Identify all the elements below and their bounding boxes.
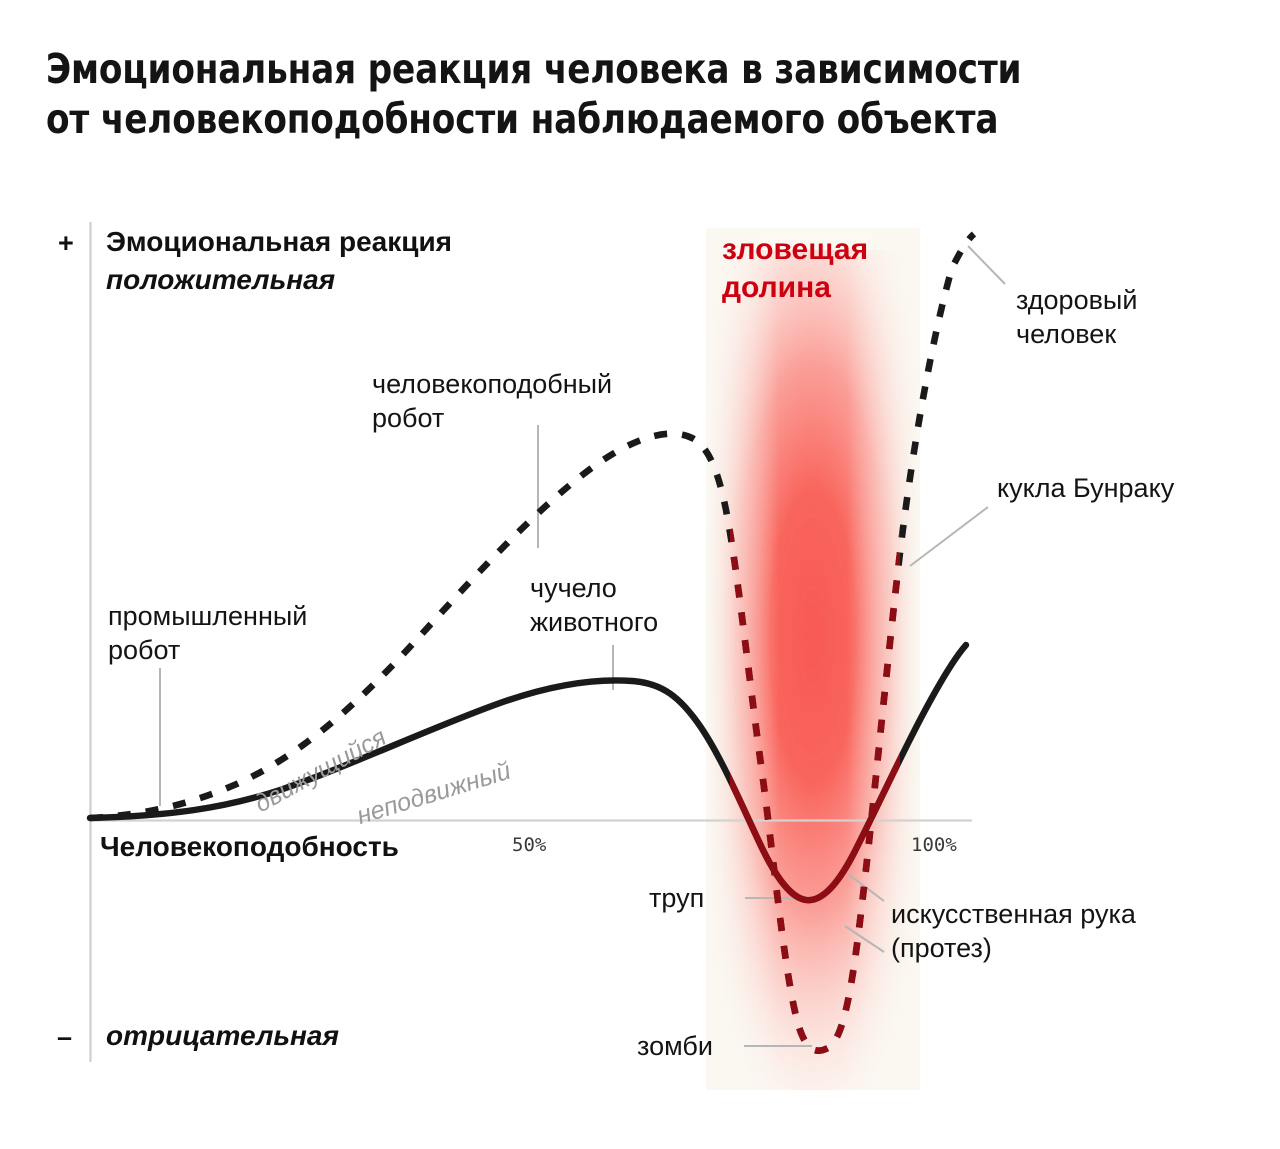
annotation-industrial-robot-line-2: робот [108, 634, 180, 667]
annotation-bunraku-puppet: кукла Бунраку [997, 472, 1174, 505]
infographic-canvas: Эмоциональная реакция человека в зависим… [0, 0, 1280, 1149]
annotation-industrial-robot-line-1: промышленный [108, 600, 307, 633]
annotation-healthy-human-line-2: человек [1016, 318, 1116, 351]
y-axis-positive-label-line-1: Эмоциональная реакция [106, 226, 452, 258]
uncanny-valley-label-line-1: зловещая [722, 232, 868, 269]
annotation-humanoid-robot-line-2: робот [372, 402, 444, 435]
leader-healthy-human [968, 246, 1005, 284]
uncanny-valley-label-line-2: долина [722, 270, 831, 307]
y-axis-positive-label-line-2: положительная [106, 264, 335, 296]
annotation-stuffed-animal-line-2: животного [530, 606, 658, 639]
y-axis-negative-label: отрицательная [106, 1020, 339, 1052]
y-axis-plus-sign: + [58, 228, 74, 259]
annotation-stuffed-animal-line-1: чучело [530, 572, 617, 605]
annotation-healthy-human-line-1: здоровый [1016, 284, 1137, 317]
annotation-prosthetic-hand-line-2: (протез) [891, 932, 992, 965]
annotation-corpse: труп [649, 882, 704, 915]
y-axis-minus-sign: – [57, 1022, 72, 1053]
annotation-prosthetic-hand-line-1: искусственная рука [891, 898, 1136, 931]
x-axis-tick-100: 100% [911, 834, 957, 856]
uncanny-valley-chart [0, 0, 1280, 1149]
annotation-humanoid-robot-line-1: человекоподобный [372, 368, 612, 401]
x-axis-tick-50: 50% [512, 834, 546, 856]
annotation-zombie: зомби [637, 1030, 713, 1063]
x-axis-label: Человекоподобность [100, 831, 399, 863]
